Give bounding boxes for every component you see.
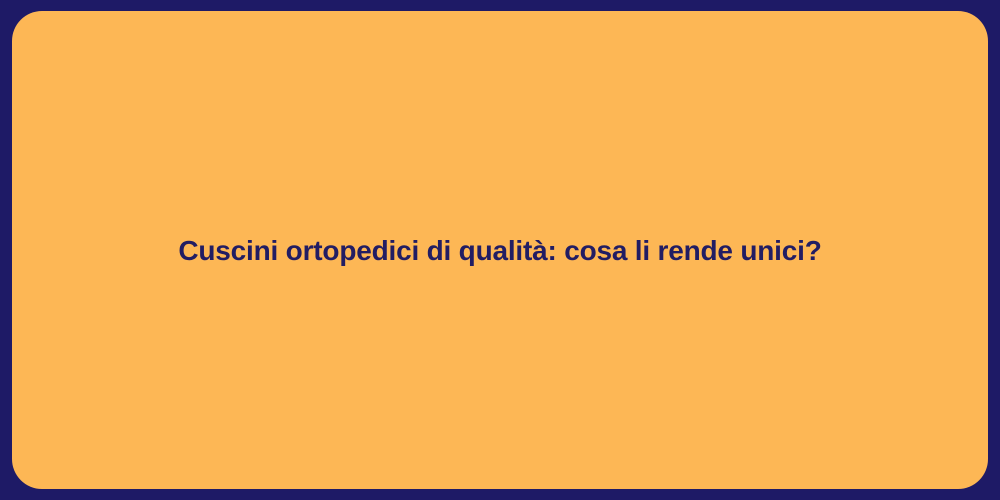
card-content: Cuscini ortopedici di qualità: cosa li r… — [12, 233, 988, 268]
page-background: Cuscini ortopedici di qualità: cosa li r… — [0, 0, 1000, 500]
page-title: Cuscini ortopedici di qualità: cosa li r… — [72, 233, 928, 268]
headline-card: Cuscini ortopedici di qualità: cosa li r… — [12, 11, 988, 489]
